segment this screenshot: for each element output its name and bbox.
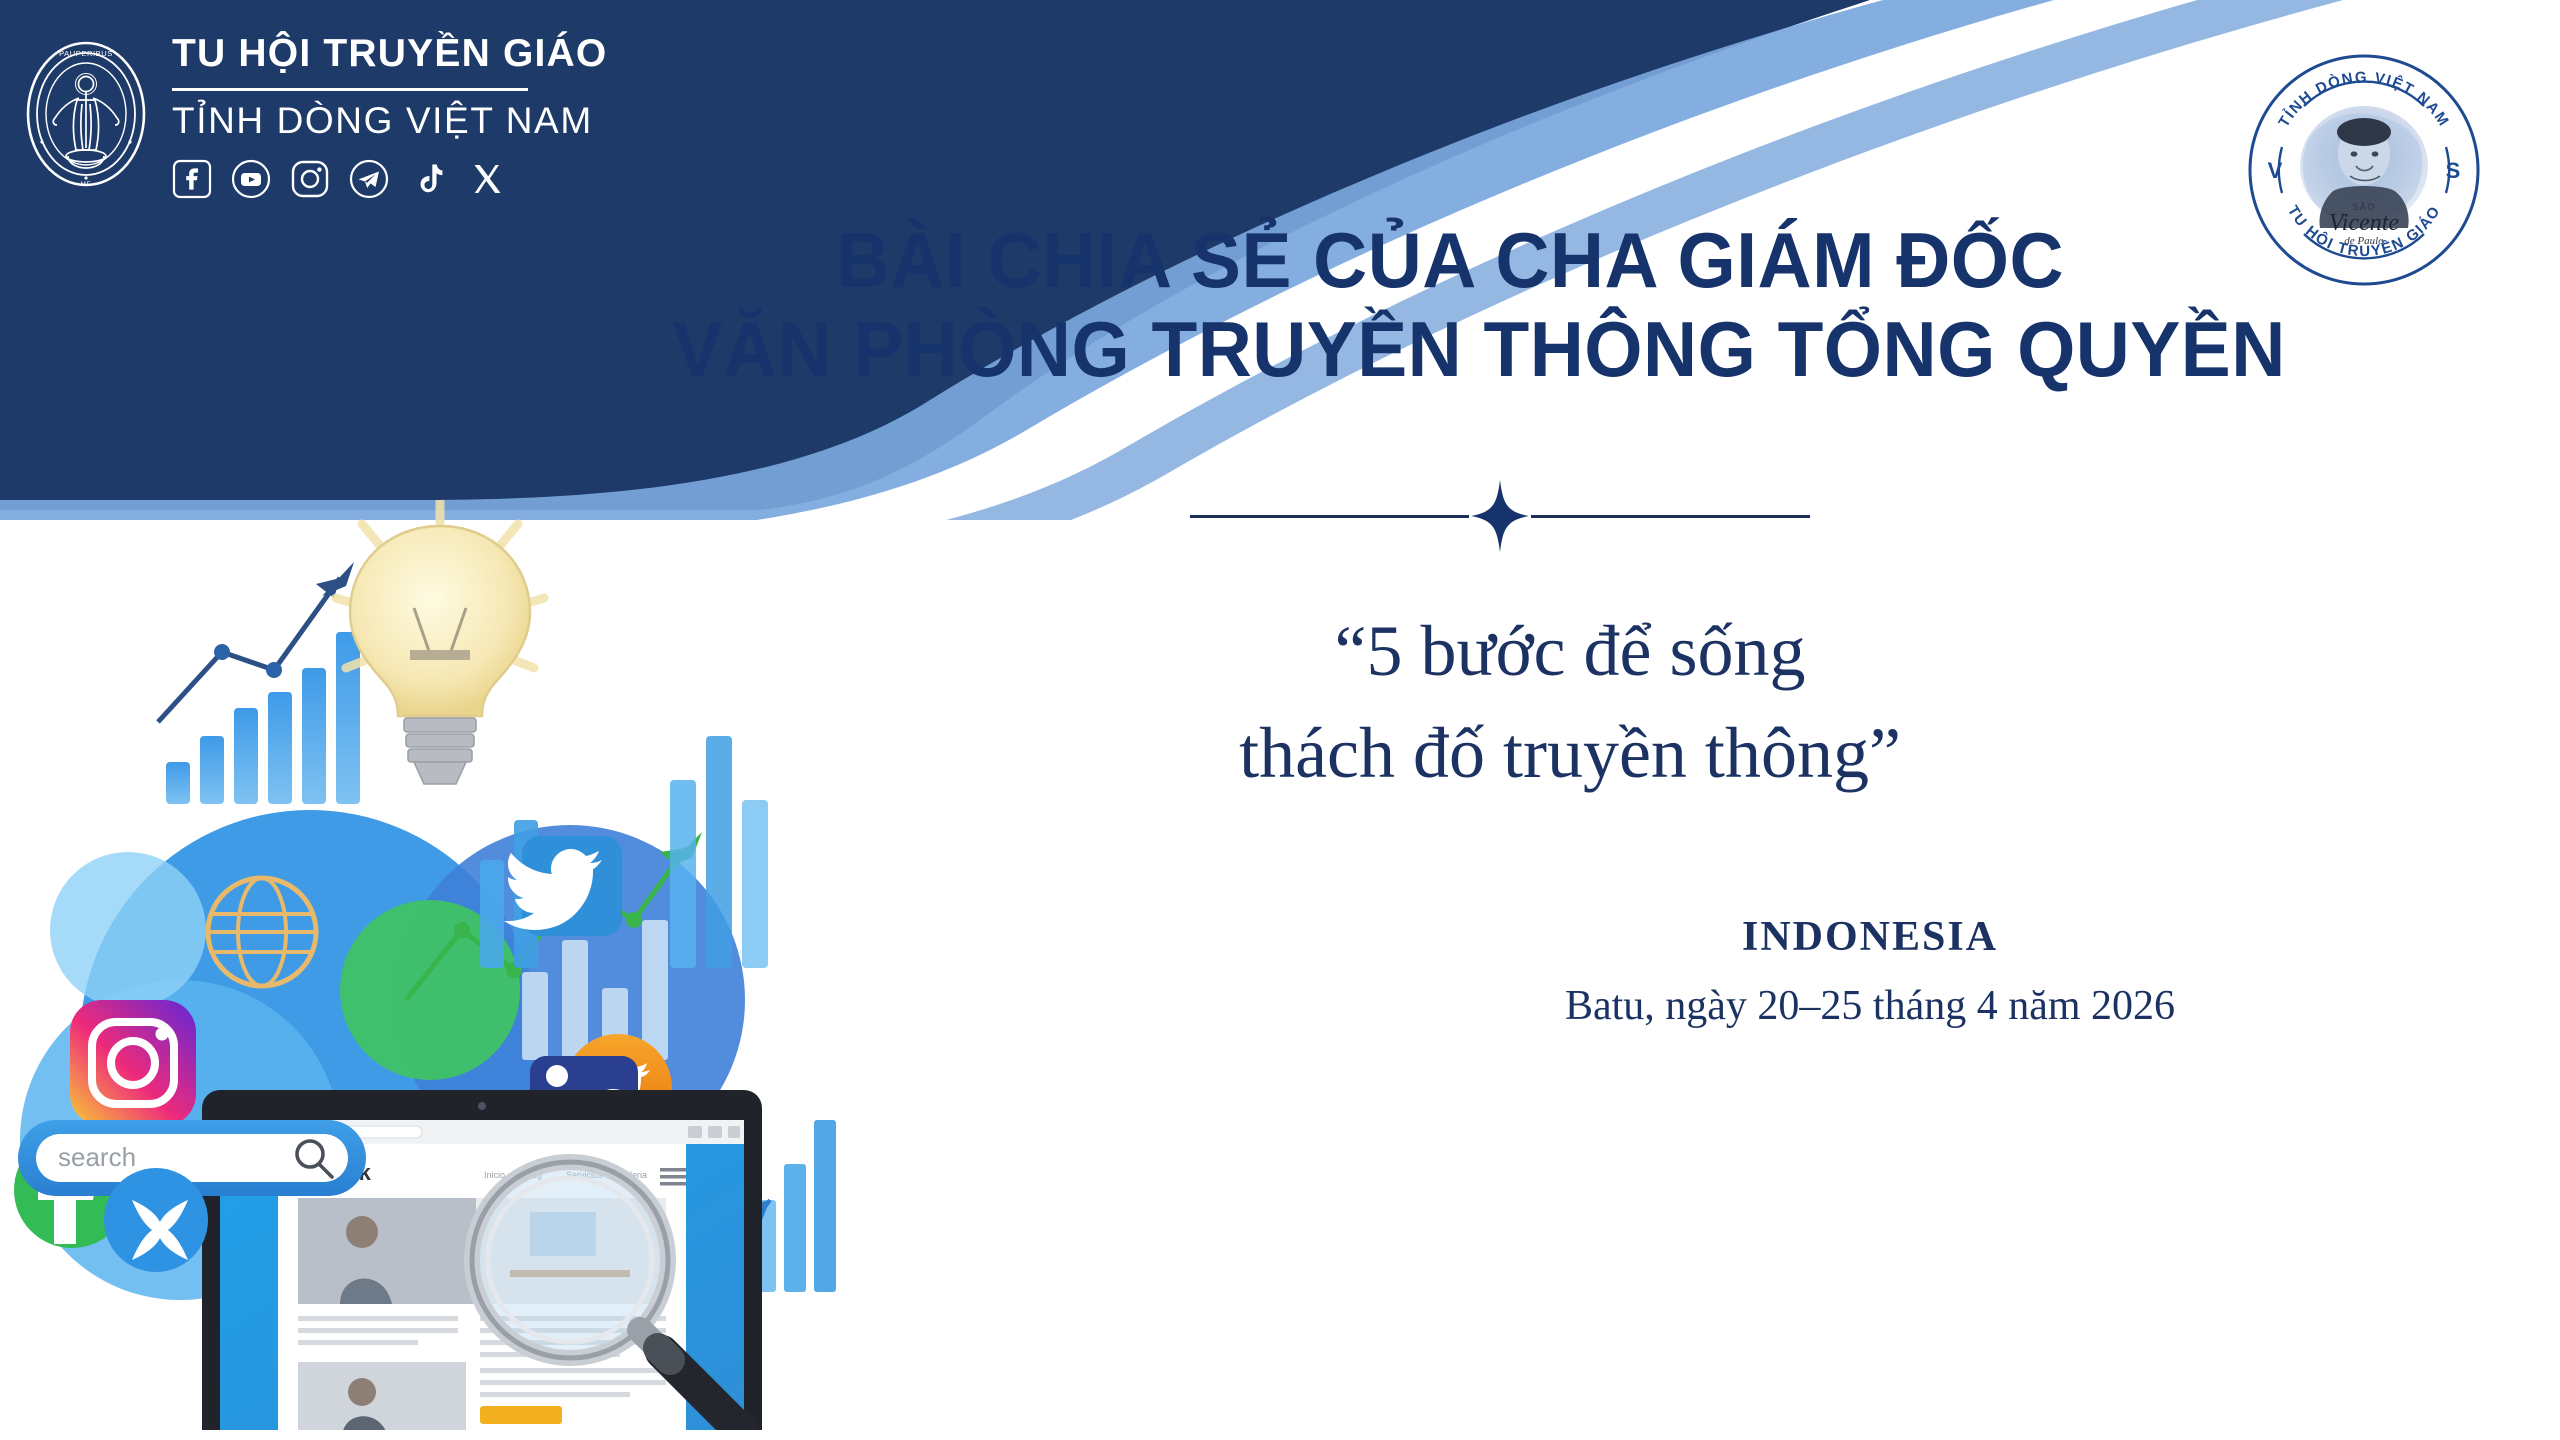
facebook-icon[interactable] bbox=[172, 159, 212, 199]
instagram-badge-icon bbox=[70, 1000, 196, 1126]
quote-block: “5 bước để sống thách đố truyền thông” bbox=[1040, 600, 2100, 804]
x-twitter-icon[interactable] bbox=[467, 159, 507, 199]
venue-date: Batu, ngày 20–25 tháng 4 năm 2026 bbox=[1380, 976, 2360, 1037]
seal-right-letter: S bbox=[2446, 158, 2461, 183]
poster-canvas: PAUPERIBUS · ME · TU HỘI TRUYỀN GIÁO TỈN… bbox=[0, 0, 2560, 1440]
youtube-icon[interactable] bbox=[231, 159, 271, 199]
venue-block: INDONESIA Batu, ngày 20–25 tháng 4 năm 2… bbox=[1380, 910, 2360, 1036]
divider bbox=[1190, 478, 1810, 554]
bar-chart-icon bbox=[166, 632, 360, 804]
marian-seal-icon: PAUPERIBUS · ME · bbox=[22, 38, 150, 190]
seal-portrait-name: Vicente bbox=[2329, 210, 2400, 236]
venue-country: INDONESIA bbox=[1380, 910, 2360, 965]
org-province: TỈNH DÒNG VIỆT NAM bbox=[172, 102, 607, 141]
page-title: BÀI CHIA SẺ CỦA CHA GIÁM ĐỐC VĂN PHÒNG T… bbox=[640, 216, 2260, 394]
social-links-row bbox=[172, 159, 607, 199]
app-badge-icon bbox=[104, 1168, 208, 1272]
title-line-2: VĂN PHÒNG TRUYỀN THÔNG TỔNG QUYỀN bbox=[672, 305, 2227, 394]
organization-text: TU HỘI TRUYỀN GIÁO TỈNH DÒNG VIỆT NAM bbox=[172, 34, 607, 199]
saint-vincent-de-paul-seal-icon: SÃO Vicente de Paulo TỈNH DÒNG VIỆT NAM … bbox=[2244, 50, 2484, 290]
seal-left-letter: V bbox=[2268, 158, 2283, 183]
tiktok-icon[interactable] bbox=[408, 159, 448, 199]
svg-text:PAUPERIBUS: PAUPERIBUS bbox=[59, 49, 113, 58]
svg-text:Inicio: Inicio bbox=[484, 1170, 505, 1180]
instagram-icon[interactable] bbox=[290, 159, 330, 199]
social-media-illustration: Flogak Inicio Blog Servicios Galeria bbox=[10, 500, 1020, 1430]
org-name: TU HỘI TRUYỀN GIÁO bbox=[172, 34, 607, 75]
svg-text:· ME ·: · ME · bbox=[75, 181, 96, 188]
telegram-icon[interactable] bbox=[349, 159, 389, 199]
divider-rule-right bbox=[1531, 515, 1810, 518]
quote-line-1: “5 bước để sống bbox=[1040, 600, 2100, 702]
title-line-1: BÀI CHIA SẺ CỦA CHA GIÁM ĐỐC bbox=[672, 216, 2227, 305]
four-point-star-icon bbox=[1469, 478, 1531, 554]
divider-rule-left bbox=[1190, 515, 1469, 518]
search-input-placeholder: search bbox=[58, 1142, 136, 1172]
org-divider-rule bbox=[172, 88, 528, 91]
organization-header: PAUPERIBUS · ME · TU HỘI TRUYỀN GIÁO TỈN… bbox=[0, 0, 640, 300]
quote-line-2: thách đố truyền thông” bbox=[1040, 702, 2100, 804]
lightbulb-icon bbox=[336, 500, 544, 784]
